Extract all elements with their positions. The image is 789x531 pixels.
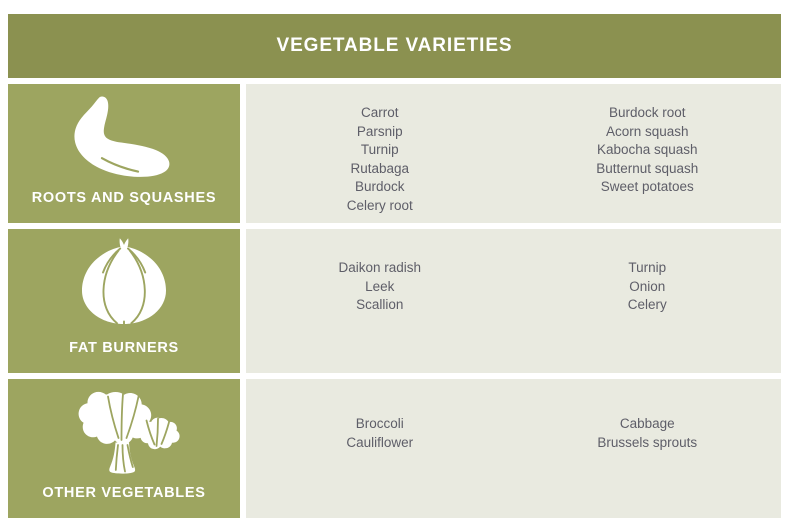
table-row: OTHER VEGETABLES Broccoli Cauliflower Ca… <box>8 379 781 518</box>
list-item: Carrot <box>361 104 399 123</box>
list-item: Burdock root <box>609 104 686 123</box>
vegetable-column: Daikon radish Leek Scallion <box>246 259 514 315</box>
list-item: Rutabaga <box>350 160 409 179</box>
category-label: OTHER VEGETABLES <box>42 485 205 508</box>
list-item: Turnip <box>361 141 399 160</box>
onion-icon <box>8 229 240 340</box>
list-item: Acorn squash <box>606 123 689 142</box>
category-content-cell: Daikon radish Leek Scallion Turnip Onion… <box>246 229 781 373</box>
list-item: Leek <box>365 278 394 297</box>
vegetable-column: Burdock root Acorn squash Kabocha squash… <box>514 104 782 197</box>
category-label-cell-other-vegetables[interactable]: OTHER VEGETABLES <box>8 379 240 518</box>
list-item: Kabocha squash <box>597 141 698 160</box>
category-content-cell: Carrot Parsnip Turnip Rutabaga Burdock C… <box>246 84 781 223</box>
list-item: Butternut squash <box>596 160 698 179</box>
list-item: Onion <box>629 278 665 297</box>
vegetable-column: Turnip Onion Celery <box>514 259 782 315</box>
table-row: ROOTS AND SQUASHES Carrot Parsnip Turnip… <box>8 84 781 223</box>
category-label: FAT BURNERS <box>69 340 179 363</box>
list-item: Cauliflower <box>346 434 413 453</box>
list-item: Brussels sprouts <box>597 434 697 453</box>
vegetable-column: Broccoli Cauliflower <box>246 415 514 452</box>
category-content-cell: Broccoli Cauliflower Cabbage Brussels sp… <box>246 379 781 518</box>
table-header-band: VEGETABLE VARIETIES <box>8 14 781 78</box>
list-item: Celery root <box>347 197 413 216</box>
vegetable-varieties-table: VEGETABLE VARIETIES ROOTS AND SQUASHES <box>0 0 789 531</box>
list-item: Cabbage <box>620 415 675 434</box>
category-label-cell-roots-and-squashes[interactable]: ROOTS AND SQUASHES <box>8 84 240 223</box>
vegetable-column: Cabbage Brussels sprouts <box>514 415 782 452</box>
category-label-cell-fat-burners[interactable]: FAT BURNERS <box>8 229 240 373</box>
list-item: Broccoli <box>356 415 404 434</box>
table-body: ROOTS AND SQUASHES Carrot Parsnip Turnip… <box>8 84 781 518</box>
table-row: FAT BURNERS Daikon radish Leek Scallion … <box>8 229 781 373</box>
broccoli-icon <box>8 379 240 485</box>
list-item: Parsnip <box>357 123 403 142</box>
list-item: Celery <box>628 296 667 315</box>
list-item: Sweet potatoes <box>601 178 694 197</box>
list-item: Scallion <box>356 296 403 315</box>
squash-icon <box>8 84 240 190</box>
vegetable-column: Carrot Parsnip Turnip Rutabaga Burdock C… <box>246 104 514 215</box>
page-title: VEGETABLE VARIETIES <box>277 35 513 57</box>
category-label: ROOTS AND SQUASHES <box>32 190 216 213</box>
list-item: Turnip <box>628 259 666 278</box>
list-item: Burdock <box>355 178 405 197</box>
list-item: Daikon radish <box>338 259 421 278</box>
